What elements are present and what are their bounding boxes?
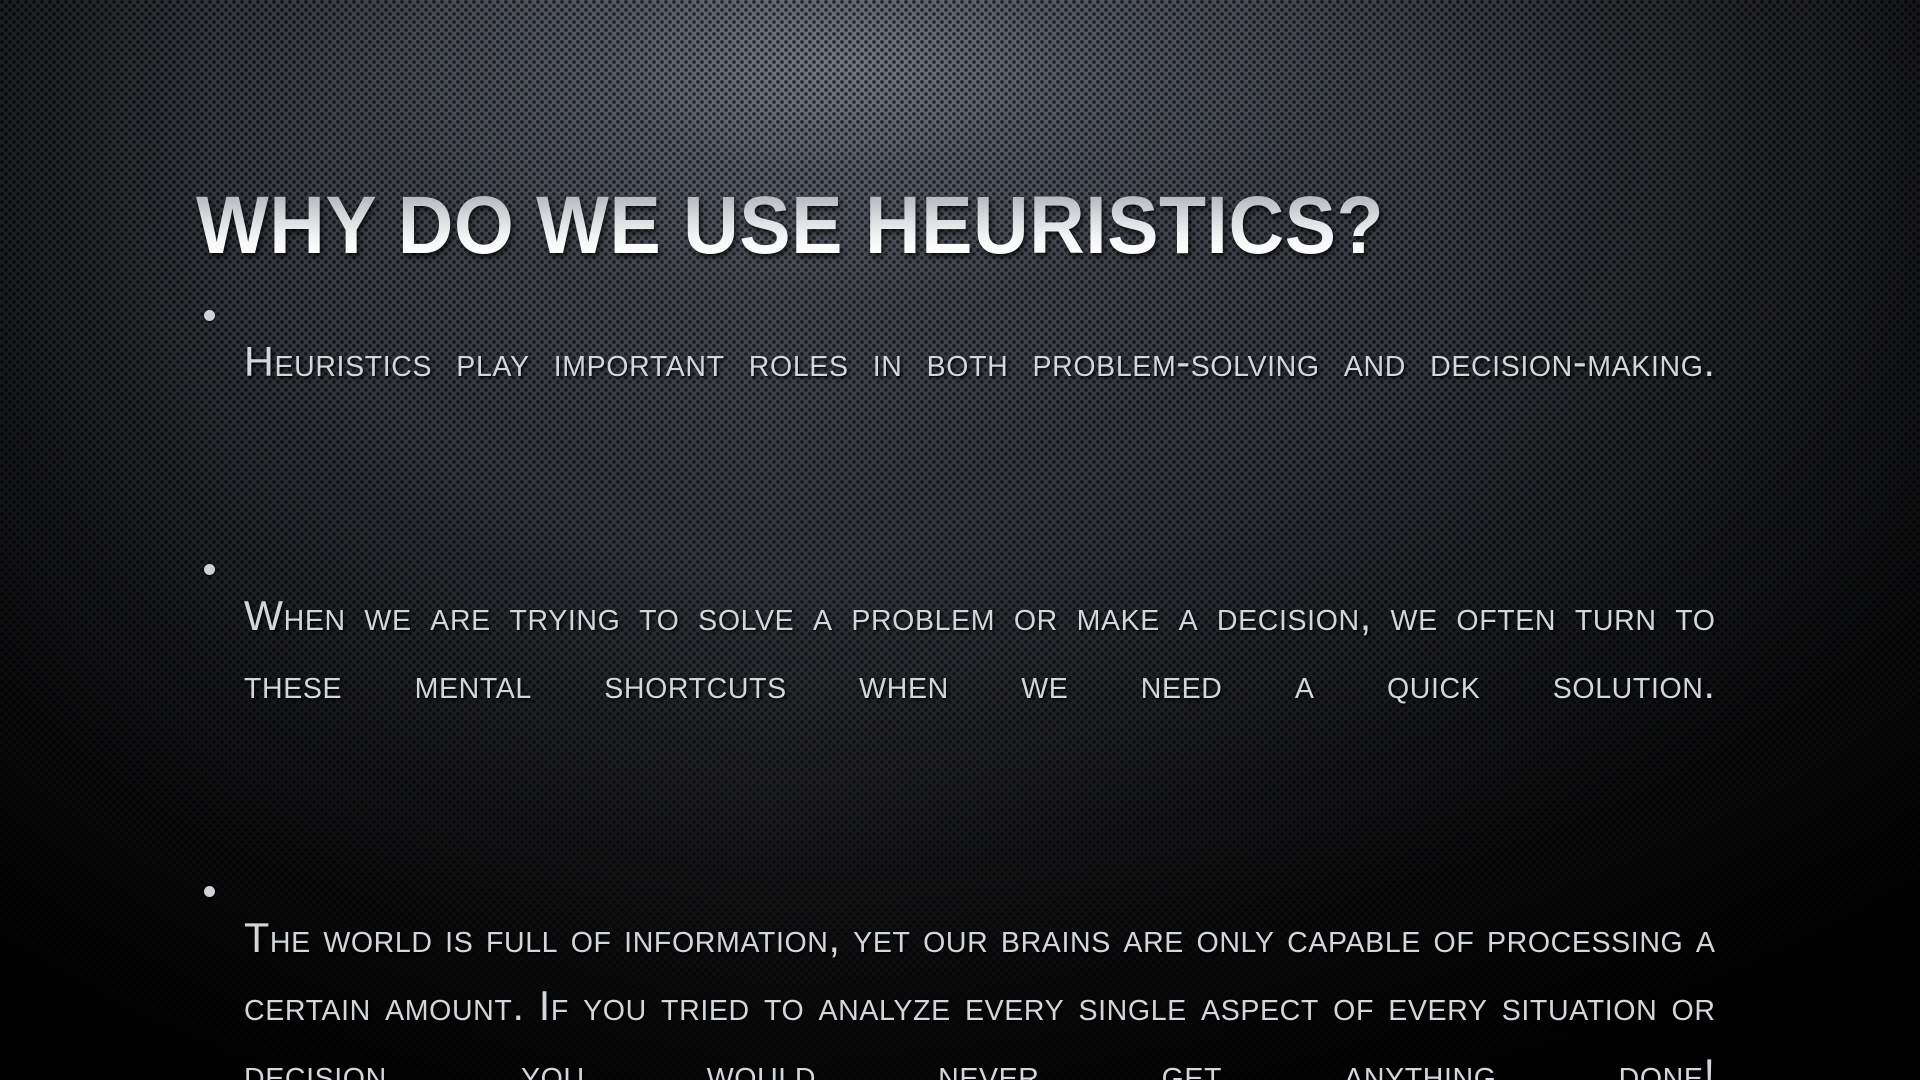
bullet-text: When we are trying to solve a problem or… — [244, 582, 1716, 786]
list-item: When we are trying to solve a problem or… — [196, 540, 1738, 828]
bullet-point-icon — [196, 286, 244, 321]
bullet-text: Heuristics play important roles in both … — [244, 328, 1716, 464]
presentation-slide: Why do we use heuristics? Heuristics pla… — [0, 0, 1920, 1080]
bullet-list: Heuristics play important roles in both … — [196, 286, 1738, 1080]
bullet-point-icon — [196, 540, 244, 575]
bullet-text: The world is full of information, yet ou… — [244, 904, 1716, 1080]
bullet-point-icon — [196, 862, 244, 897]
list-item: The world is full of information, yet ou… — [196, 862, 1738, 1080]
list-item: Heuristics play important roles in both … — [196, 286, 1738, 506]
slide-content: Why do we use heuristics? Heuristics pla… — [0, 0, 1920, 1080]
slide-title: Why do we use heuristics? — [196, 183, 1662, 269]
